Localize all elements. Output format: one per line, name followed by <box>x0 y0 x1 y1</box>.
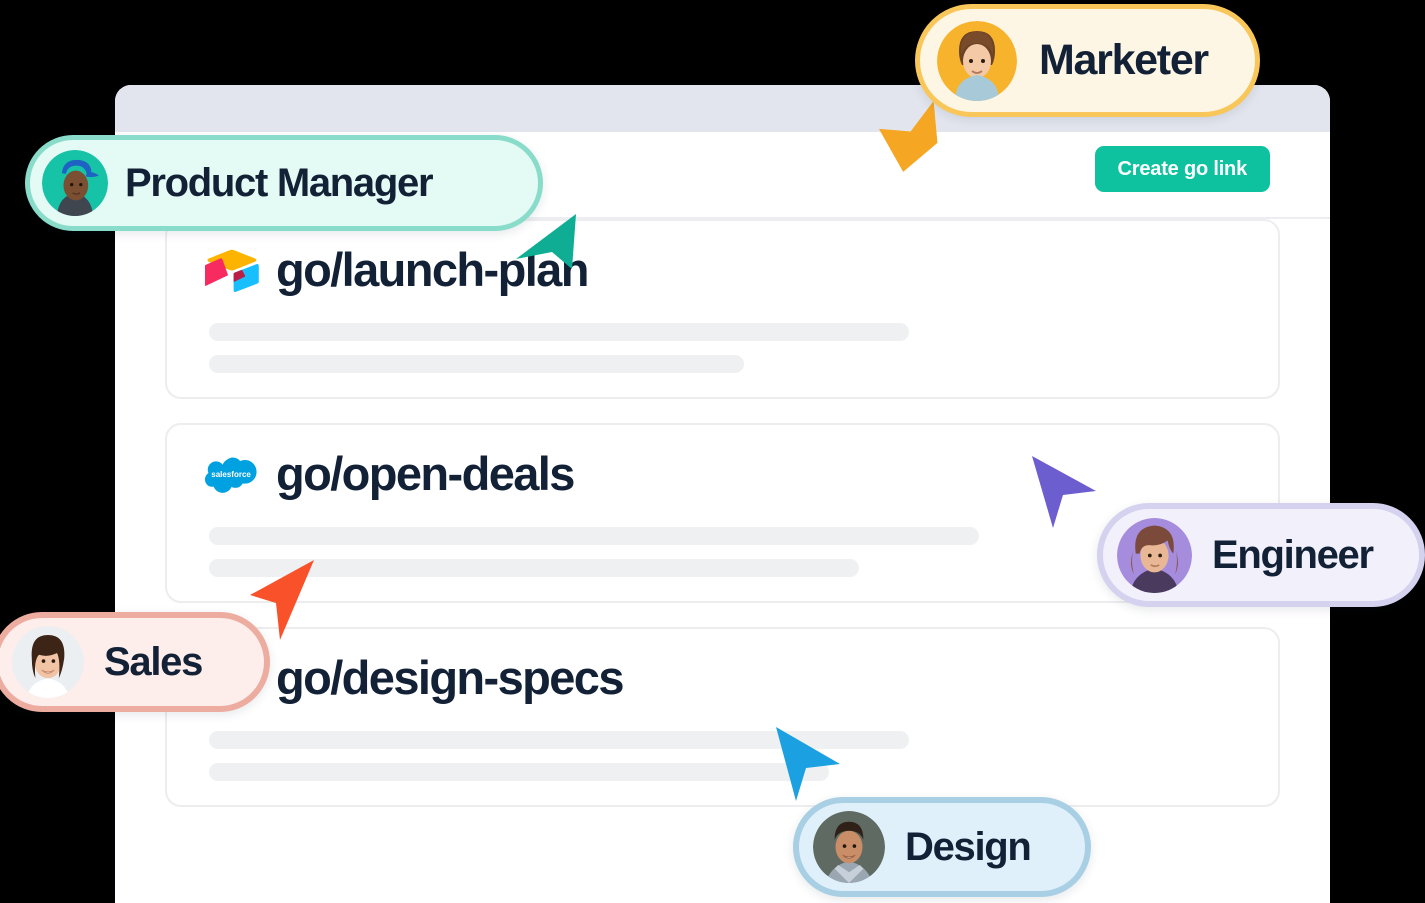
avatar <box>42 150 108 216</box>
skeleton-bar <box>209 527 979 545</box>
role-label: Engineer <box>1212 535 1373 575</box>
avatar <box>937 21 1017 101</box>
role-badge-marketer[interactable]: Marketer <box>915 4 1260 117</box>
skeleton-bar <box>209 731 909 749</box>
skeleton-bar <box>209 559 859 577</box>
avatar <box>1117 518 1192 593</box>
airtable-icon <box>205 243 259 297</box>
card-header: go/launch-plan <box>167 221 1278 293</box>
avatar <box>12 626 84 698</box>
card-header: salesforce go/open-deals <box>167 425 1278 497</box>
content-skeleton <box>167 293 1278 373</box>
role-badge-product-manager[interactable]: Product Manager <box>25 135 543 231</box>
list-item[interactable]: go/launch-plan <box>165 219 1280 399</box>
skeleton-bar <box>209 763 829 781</box>
role-label: Sales <box>104 642 202 682</box>
avatar <box>813 811 885 883</box>
go-link-title: go/open-deals <box>276 450 574 497</box>
role-badge-engineer[interactable]: Engineer <box>1097 503 1425 607</box>
list-item[interactable]: go/design-specs <box>165 627 1280 807</box>
card-header: go/design-specs <box>167 629 1278 701</box>
create-go-link-button[interactable]: Create go link <box>1095 146 1270 192</box>
role-label: Design <box>905 827 1031 867</box>
screenshot-stage: Create go link go/launch-plan <box>0 0 1425 903</box>
role-badge-sales[interactable]: Sales <box>0 612 270 712</box>
role-label: Marketer <box>1039 39 1208 82</box>
salesforce-icon: salesforce <box>205 447 259 501</box>
skeleton-bar <box>209 355 744 373</box>
role-badge-design[interactable]: Design <box>793 797 1091 897</box>
role-label: Product Manager <box>125 163 432 203</box>
go-link-title: go/launch-plan <box>276 246 588 293</box>
go-link-title: go/design-specs <box>276 654 623 701</box>
content-skeleton <box>167 701 1278 781</box>
skeleton-bar <box>209 323 909 341</box>
svg-text:salesforce: salesforce <box>211 469 251 478</box>
